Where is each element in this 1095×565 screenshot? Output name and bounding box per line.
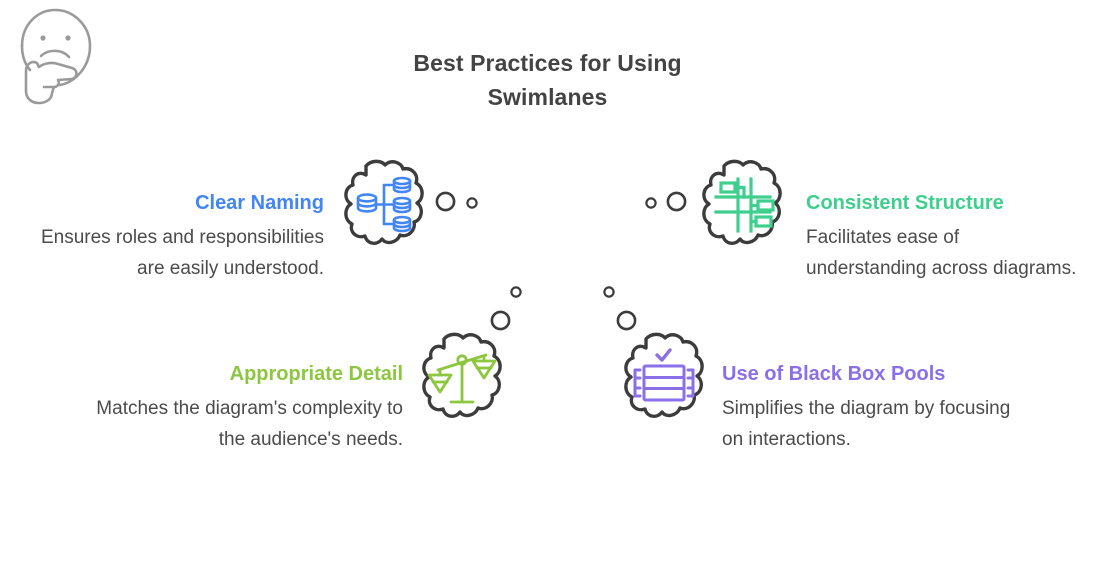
thought-bubble-right-large bbox=[666, 191, 687, 212]
thought-bubble-bottom-left-small bbox=[510, 286, 522, 298]
entry-clear-naming-heading: Clear Naming bbox=[16, 190, 324, 216]
cloud-consistent-structure bbox=[694, 157, 790, 253]
entry-clear-naming-body: Ensures roles and responsibilities are e… bbox=[16, 222, 324, 284]
thought-bubble-left-small bbox=[466, 197, 478, 209]
thought-bubble-bottom-right-large bbox=[616, 310, 637, 331]
thought-bubble-left-large bbox=[435, 191, 456, 212]
entry-appropriate-detail-heading: Appropriate Detail bbox=[84, 361, 403, 387]
thought-bubble-bottom-left-large bbox=[490, 310, 511, 331]
cloud-appropriate-detail bbox=[414, 330, 510, 426]
entry-use-of-black-box-pools-heading: Use of Black Box Pools bbox=[722, 361, 1022, 387]
cloud-clear-naming bbox=[336, 157, 432, 253]
entry-clear-naming: Clear Naming Ensures roles and responsib… bbox=[16, 190, 324, 284]
entry-consistent-structure: Consistent Structure Facilitates ease of… bbox=[806, 190, 1081, 284]
entry-consistent-structure-body: Facilitates ease of understanding across… bbox=[806, 222, 1081, 284]
entry-use-of-black-box-pools-body: Simplifies the diagram by focusing on in… bbox=[722, 393, 1022, 455]
entry-appropriate-detail: Appropriate Detail Matches the diagram's… bbox=[84, 361, 403, 455]
infographic-canvas: Best Practices for Using Swimlanes Clear… bbox=[0, 0, 1095, 565]
page-title-line-2: Swimlanes bbox=[488, 84, 608, 110]
entry-use-of-black-box-pools: Use of Black Box Pools Simplifies the di… bbox=[722, 361, 1022, 455]
cloud-use-of-black-box-pools bbox=[616, 330, 712, 426]
page-title-line-1: Best Practices for Using bbox=[413, 50, 681, 76]
thought-bubble-right-small bbox=[645, 197, 657, 209]
entry-appropriate-detail-body: Matches the diagram's complexity to the … bbox=[84, 393, 403, 455]
entry-consistent-structure-heading: Consistent Structure bbox=[806, 190, 1081, 216]
thought-bubble-bottom-right-small bbox=[603, 286, 615, 298]
page-title: Best Practices for Using Swimlanes bbox=[0, 46, 1095, 114]
